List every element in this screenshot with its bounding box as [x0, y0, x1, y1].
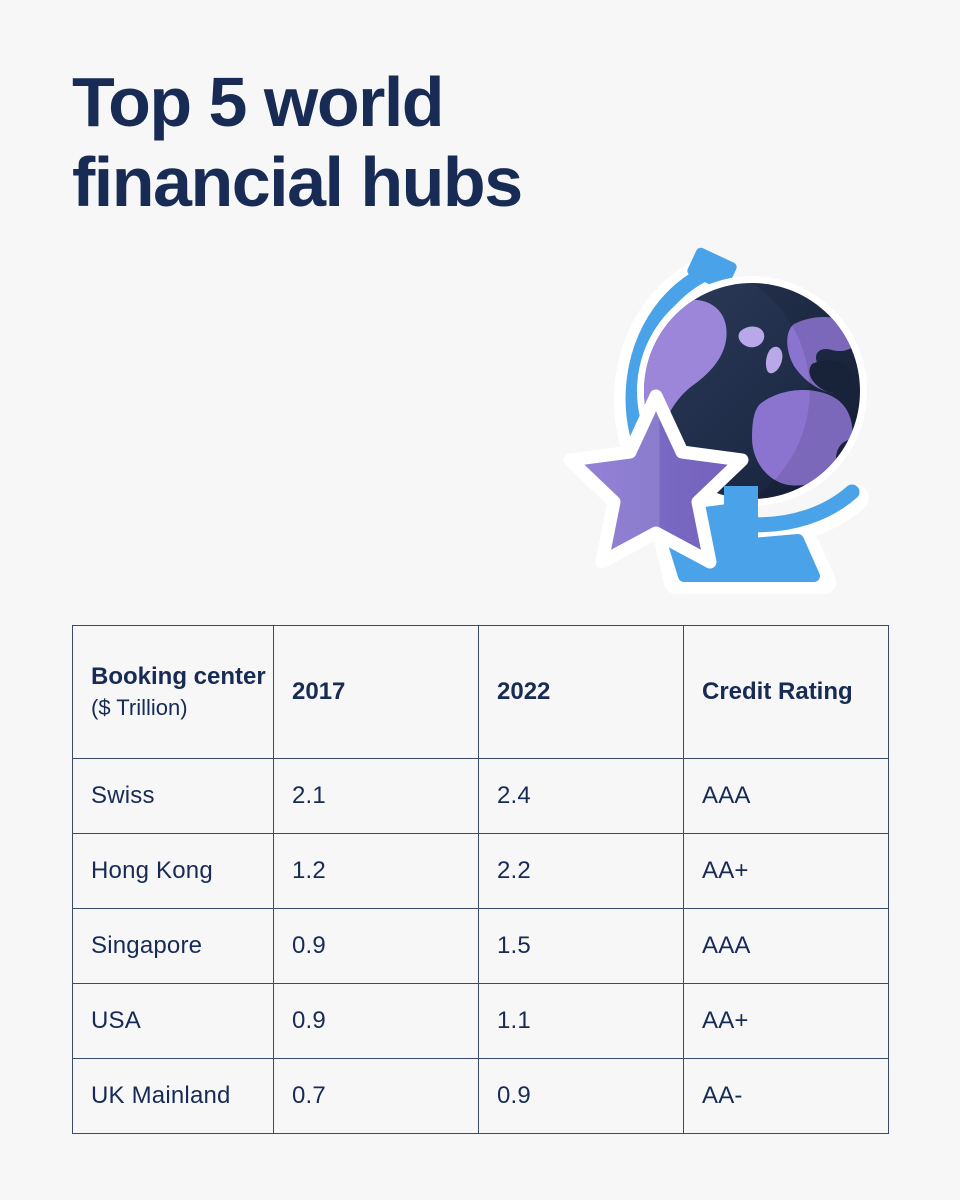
cell-2017: 0.9	[274, 984, 479, 1059]
cell-credit-rating: AA+	[684, 984, 889, 1059]
table-row: Swiss 2.1 2.4 AAA	[73, 759, 889, 834]
page-title-line-1: Top 5 world	[72, 62, 712, 142]
cell-credit-rating: AA-	[684, 1059, 889, 1134]
cell-2017: 1.2	[274, 834, 479, 909]
globe-with-star-illustration	[556, 246, 906, 596]
cell-2017: 2.1	[274, 759, 479, 834]
cell-2022: 2.4	[479, 759, 684, 834]
cell-booking-center: Singapore	[73, 909, 274, 984]
cell-credit-rating: AA+	[684, 834, 889, 909]
column-header-booking-center: Booking center ($ Trillion)	[73, 626, 274, 759]
cell-booking-center: UK Mainland	[73, 1059, 274, 1134]
table-header: Booking center ($ Trillion) 2017 2022 Cr…	[73, 626, 889, 759]
cell-2022: 0.9	[479, 1059, 684, 1134]
table-row: Hong Kong 1.2 2.2 AA+	[73, 834, 889, 909]
column-header-2017: 2017	[274, 626, 479, 759]
table-row: Singapore 0.9 1.5 AAA	[73, 909, 889, 984]
financial-hubs-table-wrapper: Booking center ($ Trillion) 2017 2022 Cr…	[72, 625, 888, 1134]
table-body: Swiss 2.1 2.4 AAA Hong Kong 1.2 2.2 AA+ …	[73, 759, 889, 1134]
cell-credit-rating: AAA	[684, 909, 889, 984]
cell-2022: 1.1	[479, 984, 684, 1059]
cell-2022: 2.2	[479, 834, 684, 909]
financial-hubs-table: Booking center ($ Trillion) 2017 2022 Cr…	[72, 625, 889, 1134]
column-header-credit-rating: Credit Rating	[684, 626, 889, 759]
cell-2017: 0.9	[274, 909, 479, 984]
cell-credit-rating: AAA	[684, 759, 889, 834]
cell-booking-center: Hong Kong	[73, 834, 274, 909]
cell-2017: 0.7	[274, 1059, 479, 1134]
page-title: Top 5 world financial hubs	[72, 62, 712, 222]
table-row: USA 0.9 1.1 AA+	[73, 984, 889, 1059]
cell-2022: 1.5	[479, 909, 684, 984]
column-header-booking-center-sub: ($ Trillion)	[91, 692, 273, 723]
cell-booking-center: Swiss	[73, 759, 274, 834]
infographic-page: Top 5 world financial hubs	[0, 0, 960, 1200]
table-row: UK Mainland 0.7 0.9 AA-	[73, 1059, 889, 1134]
page-title-line-2: financial hubs	[72, 142, 712, 222]
cell-booking-center: USA	[73, 984, 274, 1059]
table-header-row: Booking center ($ Trillion) 2017 2022 Cr…	[73, 626, 889, 759]
column-header-booking-center-main: Booking center	[91, 661, 273, 692]
column-header-2022: 2022	[479, 626, 684, 759]
